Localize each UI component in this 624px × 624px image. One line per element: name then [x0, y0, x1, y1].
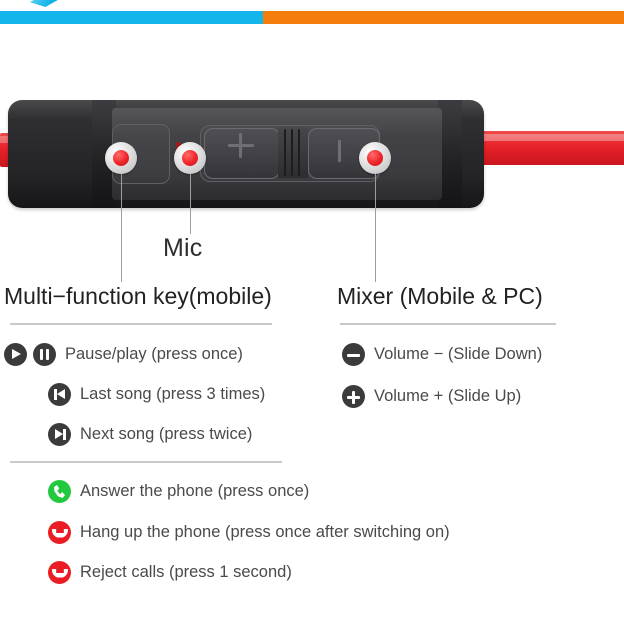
minus-symbol-icon: [338, 140, 341, 162]
divider-left: [10, 323, 272, 325]
callout-line-mic: [190, 174, 191, 234]
slider-plus-pad: [204, 128, 280, 179]
hang-up-icon: [48, 521, 71, 544]
list-item-reject-calls: Reject calls (press 1 second): [48, 561, 292, 584]
top-banner: [0, 11, 624, 24]
list-item-volume-down: Volume − (Slide Down): [342, 343, 542, 366]
list-item-label: Hang up the phone (press once after swit…: [80, 523, 450, 542]
list-item-hang-up: Hang up the phone (press once after swit…: [48, 521, 450, 544]
list-item-label: Answer the phone (press once): [80, 482, 309, 501]
divider-right: [340, 323, 556, 325]
list-item-next-song: Next song (press twice): [48, 423, 252, 446]
heading-multi-function-key: Multi−function key(mobile): [4, 283, 272, 310]
volume-up-icon: [342, 385, 365, 408]
list-item-label: Pause/play (press once): [65, 345, 243, 364]
next-track-icon: [48, 423, 71, 446]
list-item-label: Reject calls (press 1 second): [80, 563, 292, 582]
list-item-label: Volume + (Slide Up): [374, 387, 521, 406]
callout-marker-mic: [174, 142, 206, 174]
answer-call-icon: [48, 480, 71, 503]
slider-grip: [278, 127, 308, 178]
cable-right: [470, 131, 624, 165]
list-item-label: Next song (press twice): [80, 425, 252, 444]
banner-accent-shape: [30, 0, 64, 9]
list-item-volume-up: Volume + (Slide Up): [342, 385, 521, 408]
mic-label: Mic: [163, 234, 202, 263]
product-instruction-graphic: Mic Multi−function key(mobile) Mixer (Mo…: [0, 0, 624, 624]
list-item-pause-play: Pause/play (press once): [4, 343, 243, 366]
heading-mixer: Mixer (Mobile & PC): [337, 283, 543, 310]
volume-down-icon: [342, 343, 365, 366]
list-item-label: Last song (press 3 times): [80, 385, 265, 404]
previous-track-icon: [48, 383, 71, 406]
banner-blue-segment: [0, 11, 263, 24]
callout-marker-mixer: [359, 142, 391, 174]
reject-call-icon: [48, 561, 71, 584]
plus-symbol-icon: [228, 144, 254, 147]
callout-line-multi-function-key: [121, 174, 122, 282]
divider-middle: [10, 461, 282, 463]
banner-orange-segment: [263, 11, 624, 24]
callout-line-mixer: [375, 174, 376, 282]
list-item-last-song: Last song (press 3 times): [48, 383, 265, 406]
callout-marker-multi-function-key: [105, 142, 137, 174]
pause-icon: [33, 343, 56, 366]
list-item-label: Volume − (Slide Down): [374, 345, 542, 364]
play-icon: [4, 343, 27, 366]
list-item-answer-phone: Answer the phone (press once): [48, 480, 309, 503]
